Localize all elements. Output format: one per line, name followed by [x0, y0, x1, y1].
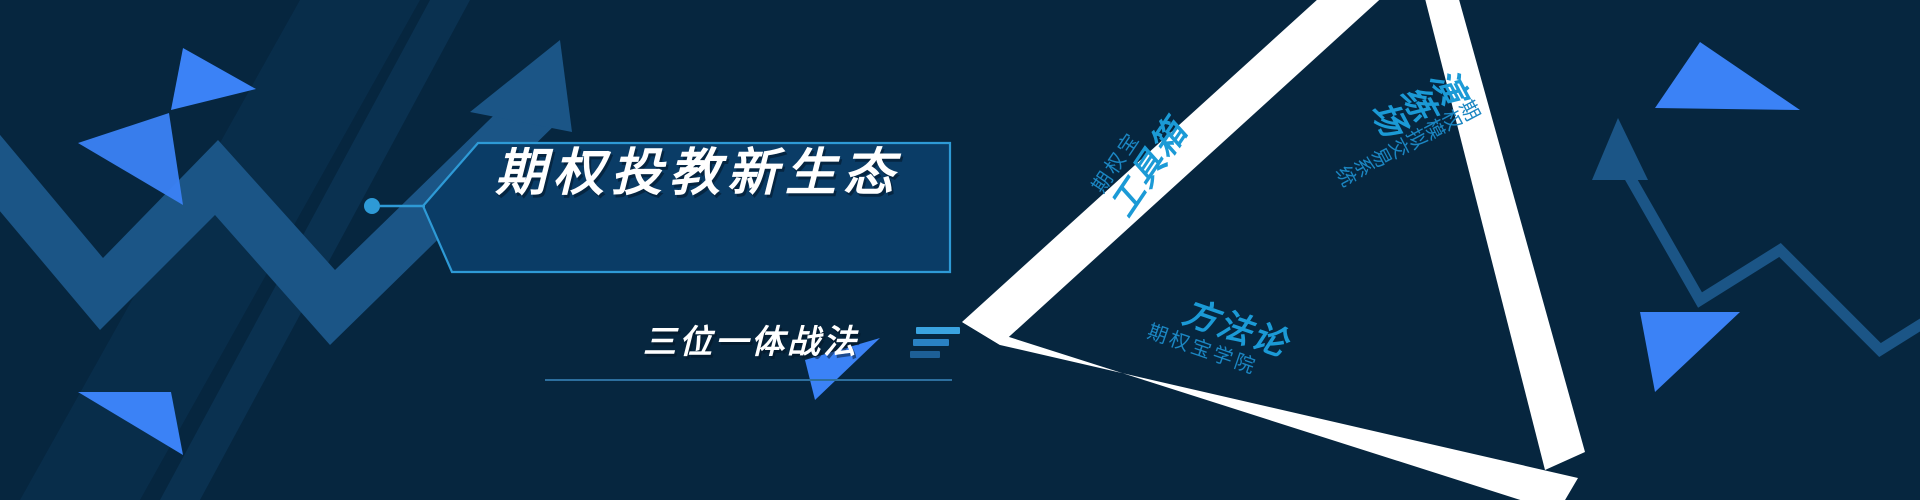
banner-background — [0, 0, 1920, 500]
title-ribbon — [423, 143, 950, 272]
promo-banner: 期权投教新生态 三位一体战法 期权宝 工具箱 期权模拟交易系统 演练场 方法论 … — [0, 0, 1920, 500]
bullet-dot-icon — [364, 198, 380, 214]
